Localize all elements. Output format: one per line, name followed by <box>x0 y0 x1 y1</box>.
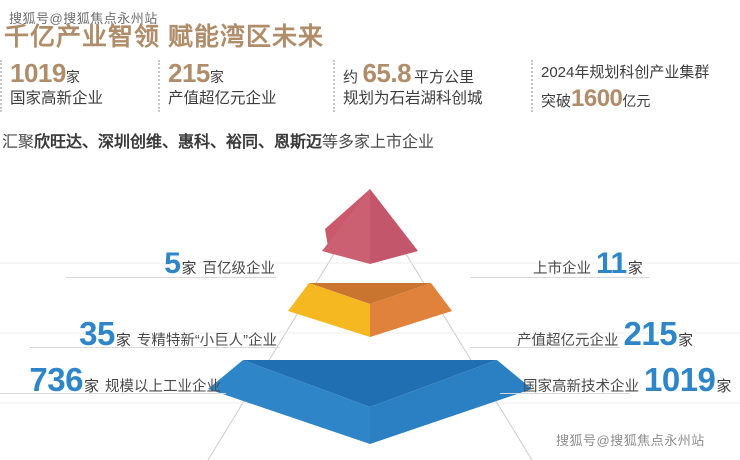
stat-number: 65.8 <box>362 58 411 88</box>
tier1-right-value: 11 <box>596 247 627 280</box>
pyramid-tier-2 <box>288 283 452 337</box>
subtitle-suffix: 等多家上市企业 <box>322 134 434 151</box>
stat-value-row: 1019家 <box>10 58 158 88</box>
infographic-page: 千亿产业智领 赋能湾区未来 1019家 国家高新企业 215家 产值超亿元企业 … <box>0 0 740 460</box>
watermark-top: 搜狐号@搜狐焦点永州站 <box>9 8 158 27</box>
stat-value-row: 215家 <box>168 58 333 88</box>
tier2-left-desc: 专精特新“小巨人”企业 <box>132 333 282 349</box>
tier1-right-desc: 上市企业 <box>528 261 596 277</box>
watermark-bottom: 搜狐号@搜狐焦点永州站 <box>556 430 705 449</box>
tier2-left-label: 35家专精特新“小巨人”企业 <box>20 315 282 349</box>
stat-caption: 规划为石岩湖科创城 <box>343 88 531 112</box>
tier2-left-value: 35 <box>79 315 115 352</box>
stat-prefix: 2024年规划科创产业集群 <box>541 64 709 81</box>
stat-block-over-100m-output: 215家 产值超亿元企业 <box>158 58 333 114</box>
subtitle-company-names: 欣旺达、深圳创维、惠科、裕同、恩斯迈 <box>34 134 322 151</box>
tier3-left-label: 736家规模以上工业企业 <box>0 361 226 395</box>
tier2-left-unit: 家 <box>115 332 132 349</box>
stat-value-row: 2024年规划科创产业集群 <box>541 58 740 88</box>
stat-block-high-tech-enterprises: 1019家 国家高新企业 <box>0 58 158 114</box>
stats-strip: 1019家 国家高新企业 215家 产值超亿元企业 约 65.8平方公里 规划为… <box>0 58 740 114</box>
tier3-right-unit: 家 <box>715 378 732 395</box>
tier3-right-value: 1019 <box>644 361 715 398</box>
stat-unit: 家 <box>210 69 224 85</box>
stat-unit: 家 <box>66 69 80 85</box>
stat-caption: 突破 <box>541 93 571 110</box>
tier1-left-value: 5 <box>164 247 180 280</box>
tier3-right-label: 国家高新技术企业1019家 <box>518 361 740 395</box>
stat-number: 1600 <box>571 85 622 112</box>
tier1-left-desc: 百亿级企业 <box>198 261 281 277</box>
tier1-right-label: 上市企业11家 <box>528 247 738 281</box>
pyramid-graphic <box>0 165 740 460</box>
stat-block-planned-area: 约 65.8平方公里 规划为石岩湖科创城 <box>333 58 531 114</box>
subtitle-companies-line: 汇聚欣旺达、深圳创维、惠科、裕同、恩斯迈等多家上市企业 <box>2 128 434 152</box>
tier2-right-desc: 产值超亿元企业 <box>512 333 624 349</box>
stat-value-row: 约 65.8平方公里 <box>343 58 531 88</box>
pyramid-chart: 5家百亿级企业 35家专精特新“小巨人”企业 736家规模以上工业企业 上市企业… <box>0 165 740 460</box>
pyramid-tier-3 <box>208 360 532 444</box>
tier3-left-desc: 规模以上工业企业 <box>100 379 226 395</box>
stat-prefix: 约 <box>343 69 358 86</box>
tier3-left-unit: 家 <box>83 378 100 395</box>
stat-number: 215 <box>168 58 210 88</box>
tier1-right-unit: 家 <box>627 260 644 277</box>
stat-unit: 亿元 <box>622 93 650 109</box>
tier1-left-label: 5家百亿级企业 <box>60 247 280 281</box>
tier2-right-unit: 家 <box>677 332 694 349</box>
stat-caption-row: 突破1600亿元 <box>541 88 740 112</box>
tier1-right <box>370 189 418 264</box>
stat-unit: 平方公里 <box>411 69 474 86</box>
tier2-right-label: 产值超亿元企业215家 <box>512 315 738 349</box>
tier3-left-value: 736 <box>29 361 83 398</box>
stat-block-industry-cluster-2024: 2024年规划科创产业集群 突破1600亿元 <box>531 58 740 114</box>
subtitle-prefix: 汇聚 <box>2 134 34 151</box>
stat-caption: 国家高新企业 <box>10 88 158 112</box>
stat-number: 1019 <box>10 58 66 88</box>
tier3-right-desc: 国家高新技术企业 <box>518 379 644 395</box>
pyramid-tier-1 <box>322 189 418 264</box>
tier1-left-unit: 家 <box>180 260 197 277</box>
stat-caption: 产值超亿元企业 <box>168 88 333 112</box>
tier2-right-value: 215 <box>624 315 678 352</box>
